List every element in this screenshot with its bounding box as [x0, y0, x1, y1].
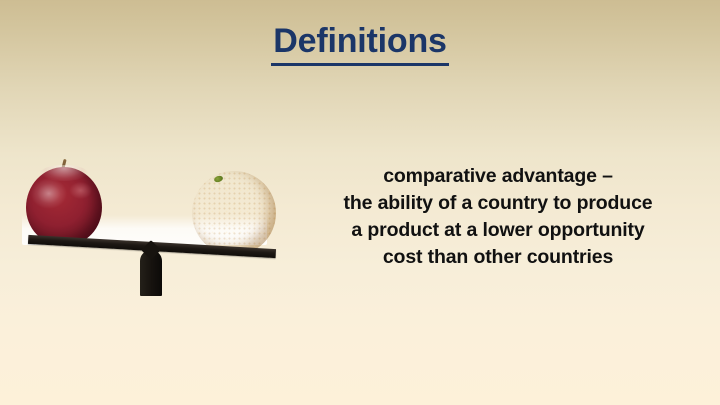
definition-line: a product at a lower opportunity — [286, 217, 710, 244]
definition-line: cost than other countries — [286, 244, 710, 271]
definition-text-block: comparative advantage – the ability of a… — [286, 163, 710, 271]
title-block: Definitions — [0, 22, 720, 66]
definition-line: the ability of a country to produce — [286, 190, 710, 217]
fulcrum-icon — [140, 250, 162, 296]
slide-canvas: Definitions comparative advantage – the … — [0, 0, 720, 405]
page-title: Definitions — [271, 22, 448, 66]
apple-top-dimple — [40, 165, 88, 181]
seesaw-illustration — [12, 145, 297, 310]
definition-line: comparative advantage – — [286, 163, 710, 190]
orange-peel-texture — [192, 171, 276, 255]
orange-icon — [192, 171, 276, 255]
apple-icon — [26, 159, 102, 245]
